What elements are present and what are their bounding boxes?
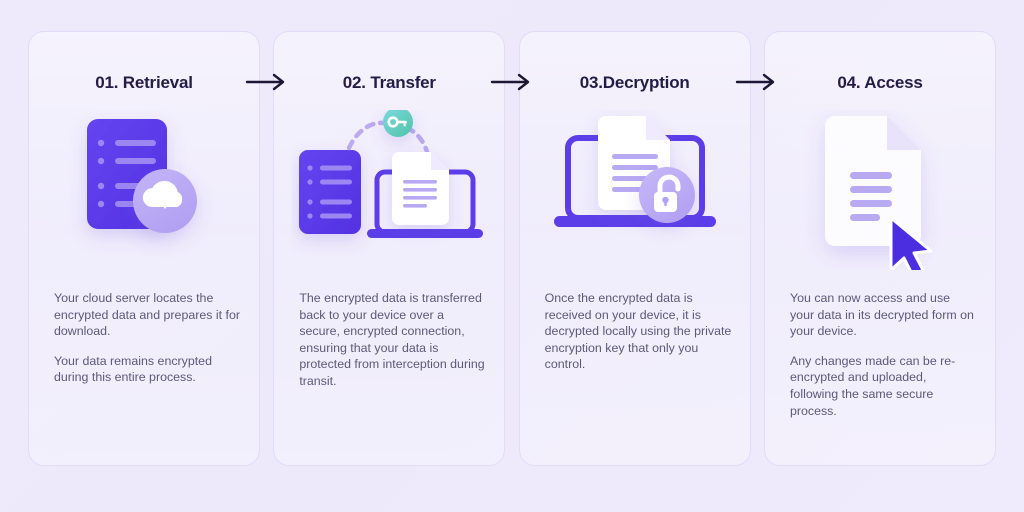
step-description: Your cloud server locates the encrypted … [54,290,241,386]
step-paragraph: Your data remains encrypted during this … [54,353,241,386]
step-title: 03.Decryption [520,73,750,93]
infographic-canvas: 01. Retrieval [0,0,1024,512]
step-title: 01. Retrieval [29,73,259,93]
step-paragraph: Your cloud server locates the encrypted … [54,290,241,340]
right-arrow-icon [245,72,289,92]
step-paragraph: The encrypted data is transferred back t… [299,290,486,390]
step-description: Once the encrypted data is received on y… [545,290,732,373]
document-icon [825,116,921,246]
step-paragraph: You can now access and use your data in … [790,290,977,340]
step-card-decryption[interactable]: 03.Decryption [519,31,751,466]
step-description: The encrypted data is transferred back t… [299,290,486,390]
illustration-server-key-laptop [274,110,504,270]
right-arrow-icon [490,72,534,92]
step-paragraph: Any changes made can be re-encrypted and… [790,353,977,419]
right-arrow-icon [735,72,779,92]
step-paragraph: Once the encrypted data is received on y… [545,290,732,373]
connector-arrow-1 [245,72,289,92]
step-title: 02. Transfer [274,73,504,93]
step-card-transfer[interactable]: 02. Transfer [273,31,505,466]
step-card-retrieval[interactable]: 01. Retrieval [28,31,260,466]
illustration-document-cursor [765,110,995,270]
step-card-access[interactable]: 04. Access [764,31,996,466]
step-description: You can now access and use your data in … [790,290,977,419]
illustration-laptop-unlock [520,110,750,270]
steps-container: 01. Retrieval [28,31,996,466]
connector-arrow-2 [490,72,534,92]
illustration-server-cloud-download [29,110,259,270]
step-title: 04. Access [765,73,995,93]
connector-arrow-3 [735,72,779,92]
